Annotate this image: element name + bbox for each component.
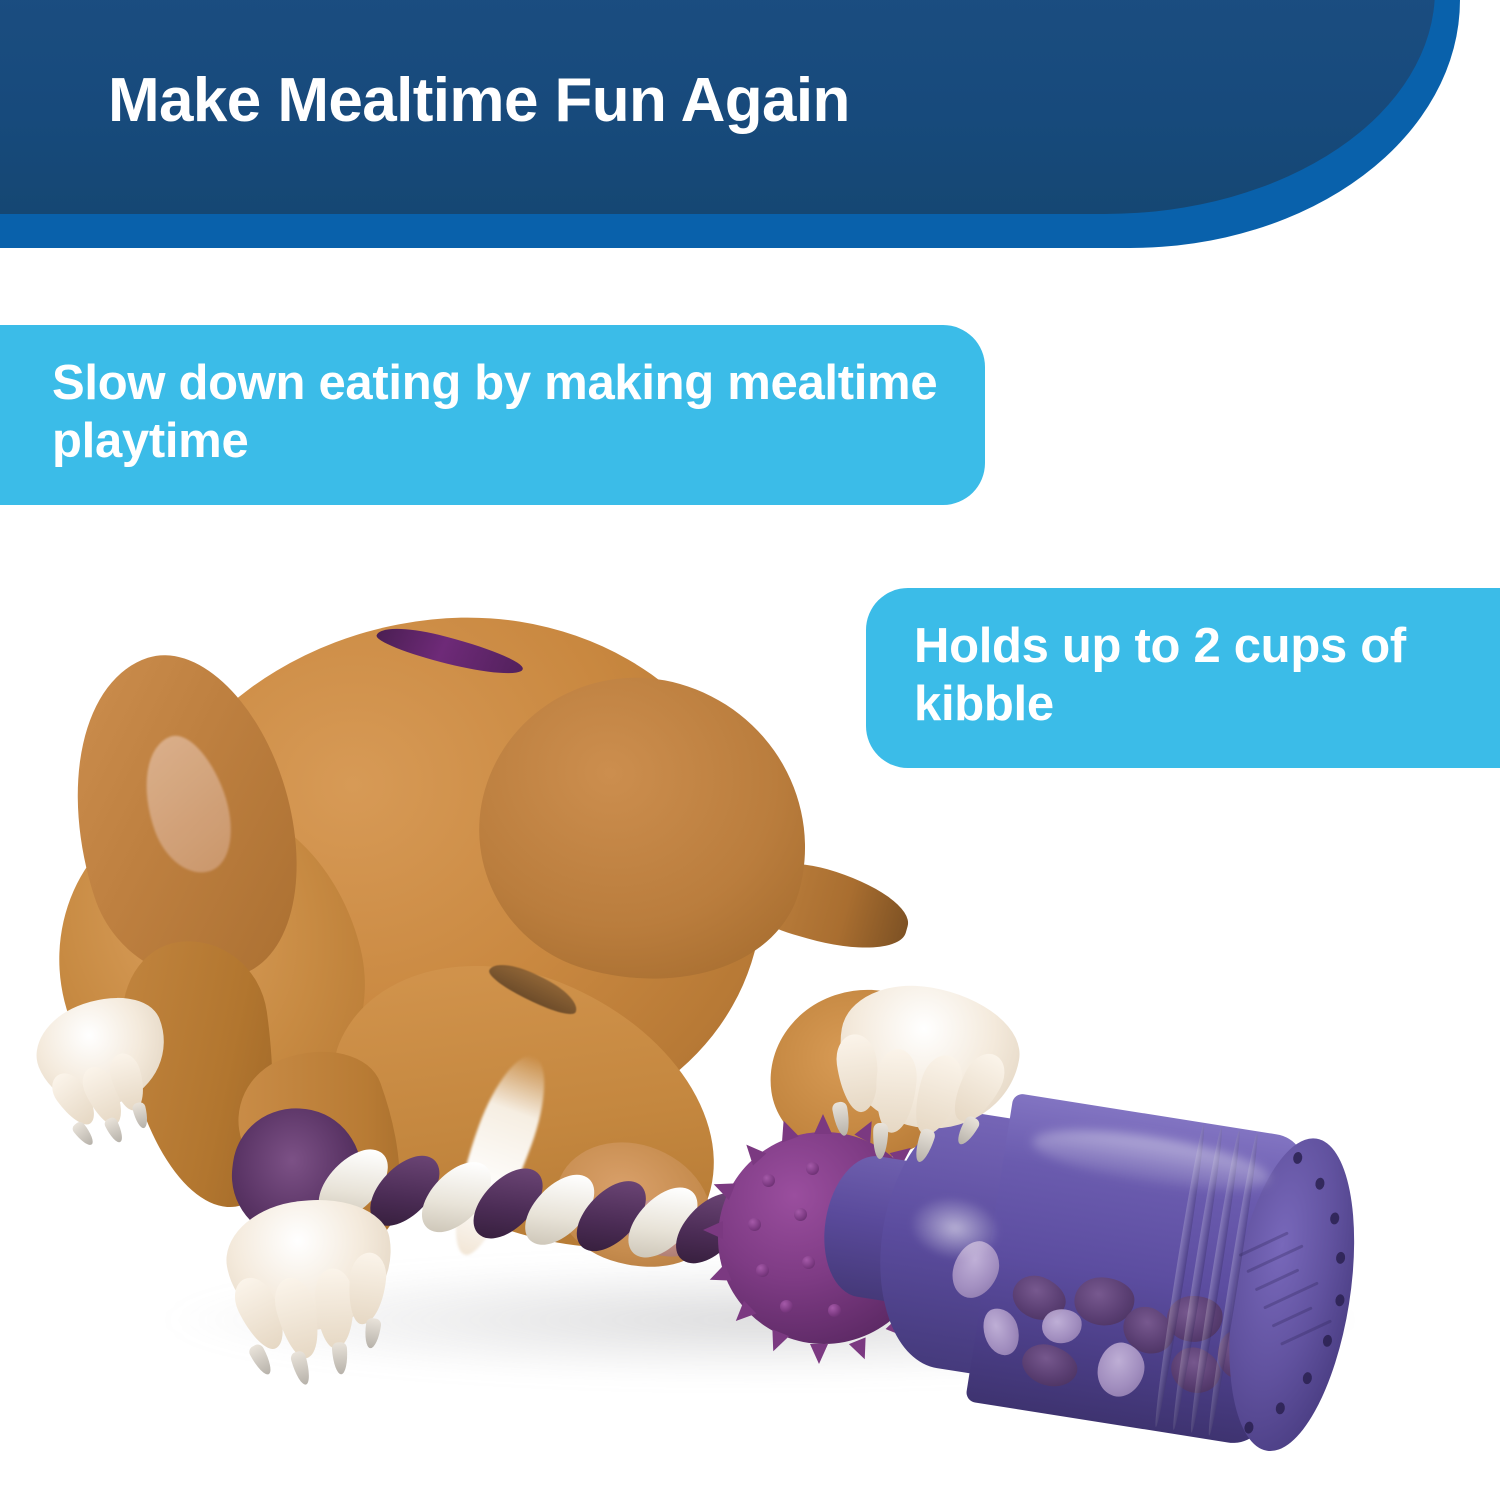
callout-slow-down-eating: Slow down eating by making mealtime play… <box>0 325 985 505</box>
ball-nub <box>802 1256 815 1269</box>
ball-spike <box>814 1114 832 1134</box>
ball-spike <box>740 1139 767 1166</box>
ball-nub <box>748 1218 761 1231</box>
ball-nub <box>780 1300 793 1313</box>
header-banner: Make Mealtime Fun Again <box>0 0 1500 252</box>
ball-spike <box>703 1221 723 1239</box>
ball-nub <box>756 1264 769 1277</box>
ball-nub <box>794 1208 807 1221</box>
page-title: Make Mealtime Fun Again <box>108 68 850 133</box>
product-photo <box>0 560 1500 1500</box>
ball-nub <box>762 1174 775 1187</box>
ball-nub <box>806 1162 819 1175</box>
